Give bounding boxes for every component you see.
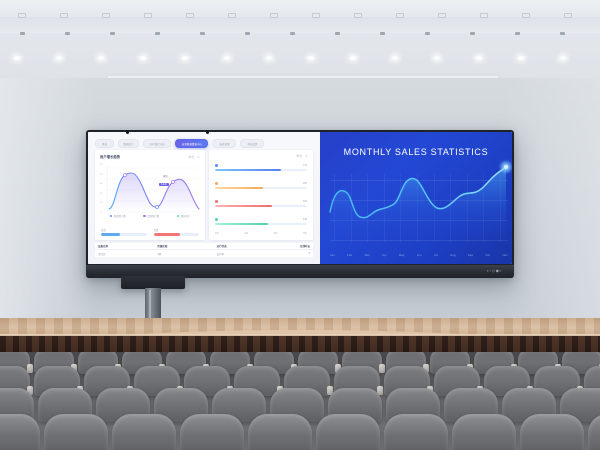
category-bar-fill	[215, 223, 268, 226]
mini-progress-1: 月活	[154, 228, 200, 236]
table-header-cell: 运行状态	[217, 244, 276, 248]
mini-progress-track	[101, 233, 147, 236]
dashboard-tab-1[interactable]: 数据统计	[118, 139, 139, 148]
ceiling-soffit	[0, 0, 600, 18]
dashboard-tab-3[interactable]: 运营数据看板中心	[175, 139, 208, 148]
category-bars-unit: 单位：人	[296, 154, 308, 158]
ceiling-downlight	[98, 56, 104, 60]
sensor-nub	[206, 130, 209, 134]
line-chart-legend: 新增用户数 活跃用户数 留存用户	[101, 214, 199, 218]
auditorium-seat	[112, 414, 176, 450]
legend-swatch	[177, 215, 180, 218]
auditorium-seat	[452, 414, 516, 450]
device-table-body[interactable]: 主控台A区运行中8	[95, 250, 313, 257]
auditorium-seat	[248, 414, 312, 450]
category-bar-row-3: 548	[215, 218, 307, 225]
x-tick-label: 200	[215, 233, 219, 235]
device-table[interactable]: 设备名称所属区域运行状态在线时长 主控台A区运行中8	[95, 243, 313, 257]
ceiling-downlight	[518, 56, 524, 60]
dashboard-tab-label: 系统设置	[247, 142, 257, 146]
ceiling-light-fixture	[200, 32, 205, 35]
sales-x-tick: May	[399, 254, 405, 257]
sales-x-tick: Jan	[330, 254, 335, 257]
legend-item-2[interactable]: 留存用户	[177, 214, 191, 218]
category-bars-header: 单位：人	[214, 154, 308, 158]
ceiling-downlight	[56, 56, 62, 60]
auditorium-seating	[0, 352, 600, 450]
ceiling-light-fixture	[270, 13, 278, 18]
ceiling-light-fixture	[335, 32, 340, 35]
x-tick-label: 600	[274, 233, 278, 235]
auditorium-seat	[180, 414, 244, 450]
legend-label: 活跃用户数	[147, 214, 159, 218]
monthly-sales-line-chart	[320, 132, 512, 264]
category-bar-track	[215, 187, 307, 190]
legend-label: 留存用户	[181, 214, 191, 218]
category-value: 712	[303, 164, 307, 167]
category-bar-row-0: 712	[215, 164, 307, 171]
mini-progress-fill	[154, 233, 180, 236]
category-bar-track	[215, 223, 307, 226]
ceiling-band	[0, 17, 600, 33]
table-cell: A区	[157, 252, 216, 256]
mini-progress-track	[154, 233, 200, 236]
sales-endpoint-marker	[504, 165, 508, 169]
sales-x-tick: Oct	[485, 254, 490, 257]
ceiling-light-fixture	[144, 13, 152, 18]
ceiling-light-fixture	[245, 32, 250, 35]
dashboard-tab-label: 报表管理	[219, 142, 229, 146]
display-screen[interactable]: 概览数据统计实时监控分析运营数据看板中心报表管理系统设置 用户增长趋势 单位：人…	[88, 132, 512, 264]
ceiling-light-fixture	[60, 13, 68, 18]
ceiling-light-fixture	[155, 32, 160, 35]
table-row[interactable]: 主控台A区运行中8	[95, 250, 313, 257]
ceiling-downlight	[476, 56, 482, 60]
sensor-nub	[126, 130, 129, 134]
ceiling-light-fixture	[396, 13, 404, 18]
ceiling-light-fixture	[515, 32, 520, 35]
display-brand-logo: ▪▫◇◆▪	[487, 268, 502, 273]
category-bar-row-top: 712	[215, 164, 307, 167]
seat-armrest	[379, 364, 385, 373]
dashboard-tab-label: 数据统计	[123, 142, 133, 146]
legend-swatch	[143, 215, 146, 218]
legend-label: 新增用户数	[114, 214, 126, 218]
sales-x-tick: Nov	[502, 254, 507, 257]
sales-x-tick: Jul	[434, 254, 438, 257]
category-bar-track	[215, 169, 307, 172]
ceiling-light-fixture	[522, 13, 530, 18]
ceiling-light-fixture	[110, 32, 115, 35]
auditorium-seat	[0, 414, 40, 450]
ceiling-downlight	[140, 56, 146, 60]
ceiling-downlight	[14, 56, 20, 60]
ceiling-downlight	[350, 56, 356, 60]
table-cell: 主控台	[98, 252, 157, 256]
sales-x-tick: Sep	[468, 254, 473, 257]
ceiling-light-fixture	[380, 32, 385, 35]
ceiling-light-fixture	[18, 13, 26, 18]
dashboard-tab-2[interactable]: 实时监控分析	[143, 139, 171, 148]
category-icon	[215, 182, 218, 185]
analytics-dashboard[interactable]: 概览数据统计实时监控分析运营数据看板中心报表管理系统设置 用户增长趋势 单位：人…	[88, 132, 320, 264]
user-growth-card-header: 用户增长趋势 单位：人	[100, 154, 200, 159]
category-bar-row-2: 593	[215, 200, 307, 207]
wall-display[interactable]: 概览数据统计实时监控分析运营数据看板中心报表管理系统设置 用户增长趋势 单位：人…	[86, 130, 514, 278]
sales-x-tick: Aug	[450, 254, 455, 257]
category-value: 548	[303, 218, 307, 221]
peak-annotation-label: 峰值	[163, 174, 168, 178]
mini-progress-row: 日活 月活	[101, 228, 199, 236]
category-icon	[215, 218, 218, 221]
ceiling-light-fixture	[290, 32, 295, 35]
category-bar-row-top: 486	[215, 182, 307, 185]
bezel-left-mark: · · · · ·	[96, 269, 110, 273]
category-value: 486	[303, 182, 307, 185]
ceiling-light-fixture	[186, 13, 194, 18]
category-icon	[215, 164, 218, 167]
auditorium-seat	[44, 414, 108, 450]
ceiling-light-fixture	[560, 32, 565, 35]
user-growth-line-chart	[95, 162, 205, 220]
table-header-cell: 所属区域	[157, 244, 216, 248]
x-tick-label: 400	[244, 233, 248, 235]
wall-light-sheen-right	[505, 78, 600, 320]
table-header-cell: 设备名称	[98, 244, 157, 248]
table-cell: 8	[276, 252, 310, 255]
conference-room-scene: 概览数据统计实时监控分析运营数据看板中心报表管理系统设置 用户增长趋势 单位：人…	[0, 0, 600, 450]
ceiling-downlight	[392, 56, 398, 60]
category-bar-row-top: 548	[215, 218, 307, 221]
ceiling-downlight	[560, 56, 566, 60]
legend-item-1[interactable]: 活跃用户数	[143, 214, 159, 218]
category-bar-fill	[215, 169, 281, 172]
auditorium-seat	[520, 414, 584, 450]
ceiling-light-fixture	[354, 13, 362, 18]
ceiling-downlight	[308, 56, 314, 60]
dashboard-tab-4[interactable]: 报表管理	[212, 139, 236, 148]
table-cell: 运行中	[217, 252, 276, 256]
ceiling-light-fixture	[312, 13, 320, 18]
mini-progress-label: 日活	[101, 228, 147, 232]
x-tick-label: 800	[303, 233, 307, 235]
dashboard-tab-label: 实时监控分析	[149, 142, 164, 146]
category-bar-row-1: 486	[215, 182, 307, 189]
ceiling-downlight	[224, 56, 230, 60]
mini-progress-0: 日活	[101, 228, 147, 236]
monthly-sales-panel[interactable]: MONTHLY SALES STATISTICS	[320, 132, 512, 264]
ceiling-light-fixture	[20, 32, 25, 35]
ceiling-downlight	[434, 56, 440, 60]
ceiling-light-fixture	[65, 32, 70, 35]
dashboard-tab-label: 概览	[102, 142, 107, 146]
category-bar-track	[215, 205, 307, 208]
category-value: 593	[303, 200, 307, 203]
sales-x-tick: Jun	[417, 254, 422, 257]
ceiling-light-fixture	[438, 13, 446, 18]
sales-x-axis-labels: JanFebMarAprMayJunJulAugSepOctNov	[330, 254, 508, 257]
auditorium-seat	[384, 414, 448, 450]
ceiling-light-fixture	[425, 32, 430, 35]
user-growth-unit: 单位：人	[188, 155, 200, 159]
dashboard-tab-label: 运营数据看板中心	[181, 142, 201, 146]
auditorium-seat	[316, 414, 380, 450]
wall-light-sheen-left	[0, 78, 95, 320]
dashboard-tab-5[interactable]: 系统设置	[240, 139, 264, 148]
user-growth-title: 用户增长趋势	[100, 154, 120, 159]
category-icon	[215, 200, 218, 203]
ceiling-light-fixture	[228, 13, 236, 18]
ceiling-downlight	[182, 56, 188, 60]
category-bar-row-top: 593	[215, 200, 307, 203]
dashboard-tab-bar[interactable]: 概览数据统计实时监控分析运营数据看板中心报表管理系统设置	[95, 139, 264, 148]
ceiling-downlight	[266, 56, 272, 60]
category-bar-fill	[215, 205, 272, 208]
sales-x-tick: Apr	[382, 254, 387, 257]
category-bars-x-axis: 200400600800	[215, 233, 307, 235]
sales-x-tick: Feb	[347, 254, 352, 257]
user-growth-card[interactable]: 用户增长趋势 单位：人 50403020100	[95, 150, 205, 240]
legend-swatch	[110, 215, 113, 218]
sales-x-tick: Mar	[365, 254, 370, 257]
table-header-cell: 在线时长	[276, 244, 310, 248]
category-bars-card[interactable]: 单位：人 712 486 593	[209, 150, 313, 240]
ceiling	[0, 0, 600, 78]
ceiling-light-fixture	[102, 13, 110, 18]
legend-item-0[interactable]: 新增用户数	[110, 214, 126, 218]
category-bar-fill	[215, 187, 263, 190]
mini-progress-fill	[101, 233, 120, 236]
ceiling-light-fixture	[564, 13, 572, 18]
ceiling-light-fixture	[470, 32, 475, 35]
dashboard-tab-0[interactable]: 概览	[95, 139, 114, 148]
mini-progress-label: 月活	[154, 228, 200, 232]
peak-annotation-value: 8,420	[159, 183, 169, 186]
ceiling-light-fixture	[480, 13, 488, 18]
device-table-header: 设备名称所属区域运行状态在线时长	[95, 243, 313, 250]
